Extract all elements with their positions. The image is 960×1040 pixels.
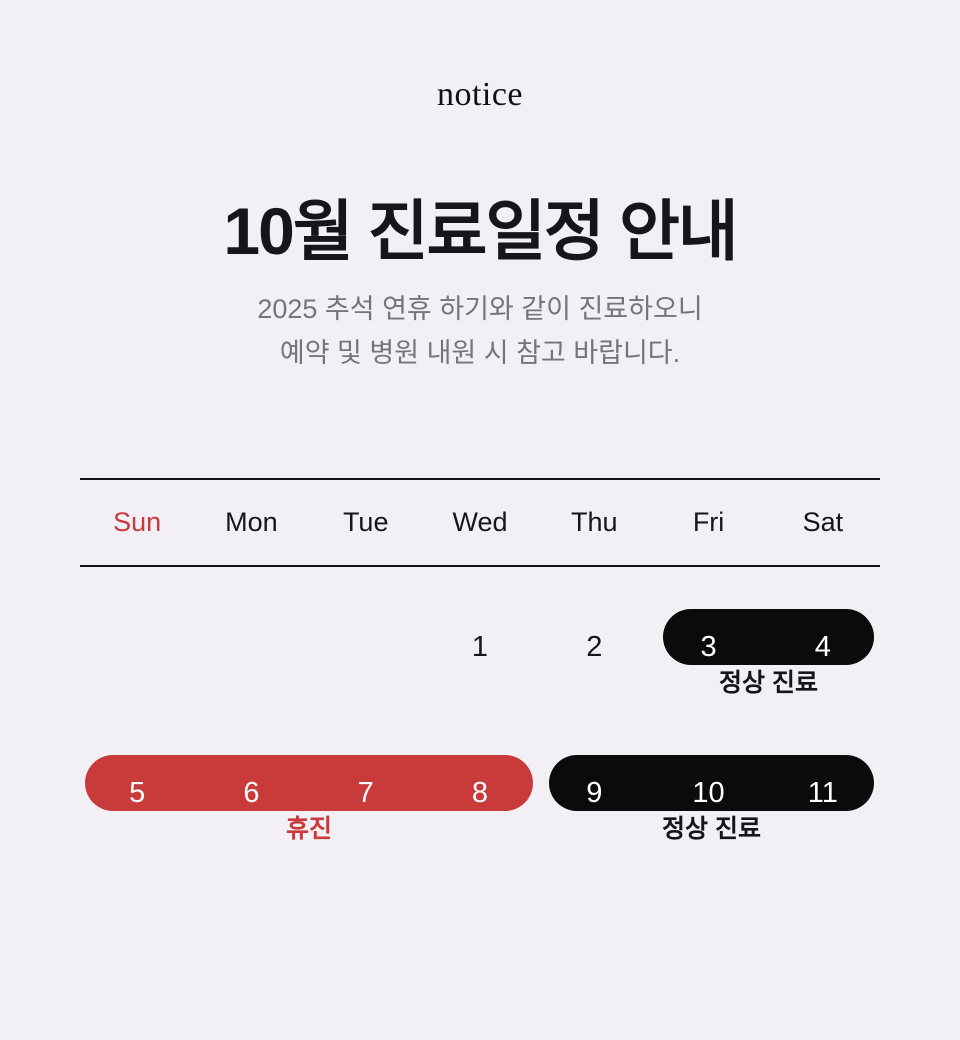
calendar-week-row-2: 5 6 7 8 9 10 11 휴진 정상 진료 — [80, 755, 880, 831]
schedule-caption-normal-3-4: 정상 진료 — [663, 671, 874, 696]
notice-page: notice 10월 진료일정 안내 2025 추석 연휴 하기와 같이 진료하… — [0, 0, 960, 1040]
eyebrow-label: notice — [0, 78, 960, 112]
page-subtitle: 2025 추석 연휴 하기와 같이 진료하오니 예약 및 병원 내원 시 참고 … — [0, 288, 960, 375]
calendar-header-rule — [80, 565, 880, 567]
page-title: 10월 진료일정 안내 — [0, 196, 960, 267]
calendar-day-8: 8 — [423, 779, 537, 808]
calendar-day-11: 11 — [766, 779, 880, 808]
calendar-day-9: 9 — [537, 779, 651, 808]
schedule-caption-closed-5-8: 휴진 — [85, 817, 533, 842]
weekday-tue: Tue — [309, 509, 423, 536]
subtitle-line-1: 2025 추석 연휴 하기와 같이 진료하오니 — [0, 288, 960, 332]
weekday-fri: Fri — [651, 509, 765, 536]
calendar: Sun Mon Tue Wed Thu Fri Sat 1 2 3 4 정상 진… — [80, 478, 880, 831]
weekday-sat: Sat — [766, 509, 880, 536]
calendar-day-2: 2 — [537, 633, 651, 662]
weekday-sun: Sun — [80, 509, 194, 536]
calendar-weekday-header: Sun Mon Tue Wed Thu Fri Sat — [80, 480, 880, 565]
calendar-day-4: 4 — [766, 633, 880, 662]
weekday-wed: Wed — [423, 509, 537, 536]
subtitle-line-2: 예약 및 병원 내원 시 참고 바랍니다. — [0, 332, 960, 376]
weekday-mon: Mon — [194, 509, 308, 536]
calendar-day-10: 10 — [651, 779, 765, 808]
weekday-thu: Thu — [537, 509, 651, 536]
calendar-week-row-1: 1 2 3 4 정상 진료 — [80, 609, 880, 685]
calendar-day-1: 1 — [423, 633, 537, 662]
calendar-day-3: 3 — [651, 633, 765, 662]
calendar-day-5: 5 — [80, 779, 194, 808]
schedule-caption-normal-9-11: 정상 진료 — [549, 817, 874, 842]
calendar-day-7: 7 — [309, 779, 423, 808]
calendar-day-6: 6 — [194, 779, 308, 808]
